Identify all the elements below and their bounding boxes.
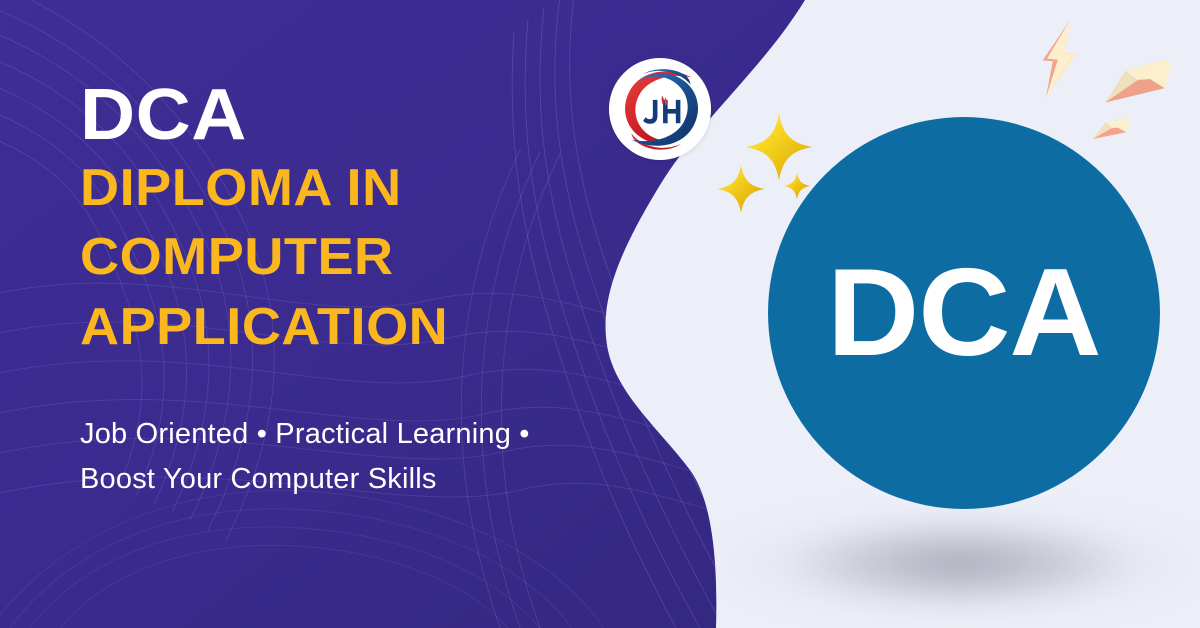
headline-line-2: COMPUTER: [80, 223, 631, 292]
promo-banner: DCA: [0, 0, 1200, 628]
headline-subtitle-lines: DIPLOMA IN COMPUTER APPLICATION: [80, 154, 631, 361]
headline-line-3: APPLICATION: [80, 293, 631, 362]
dca-circle-label: DCA: [827, 251, 1101, 375]
dca-circle-badge: DCA: [768, 117, 1160, 509]
tagline-text: Job Oriented • Practical Learning • Boos…: [80, 412, 605, 502]
headline-block: DCA DIPLOMA IN COMPUTER APPLICATION: [80, 82, 610, 362]
headline-dca: DCA: [80, 82, 642, 148]
headline-line-1: DIPLOMA IN: [80, 154, 631, 223]
